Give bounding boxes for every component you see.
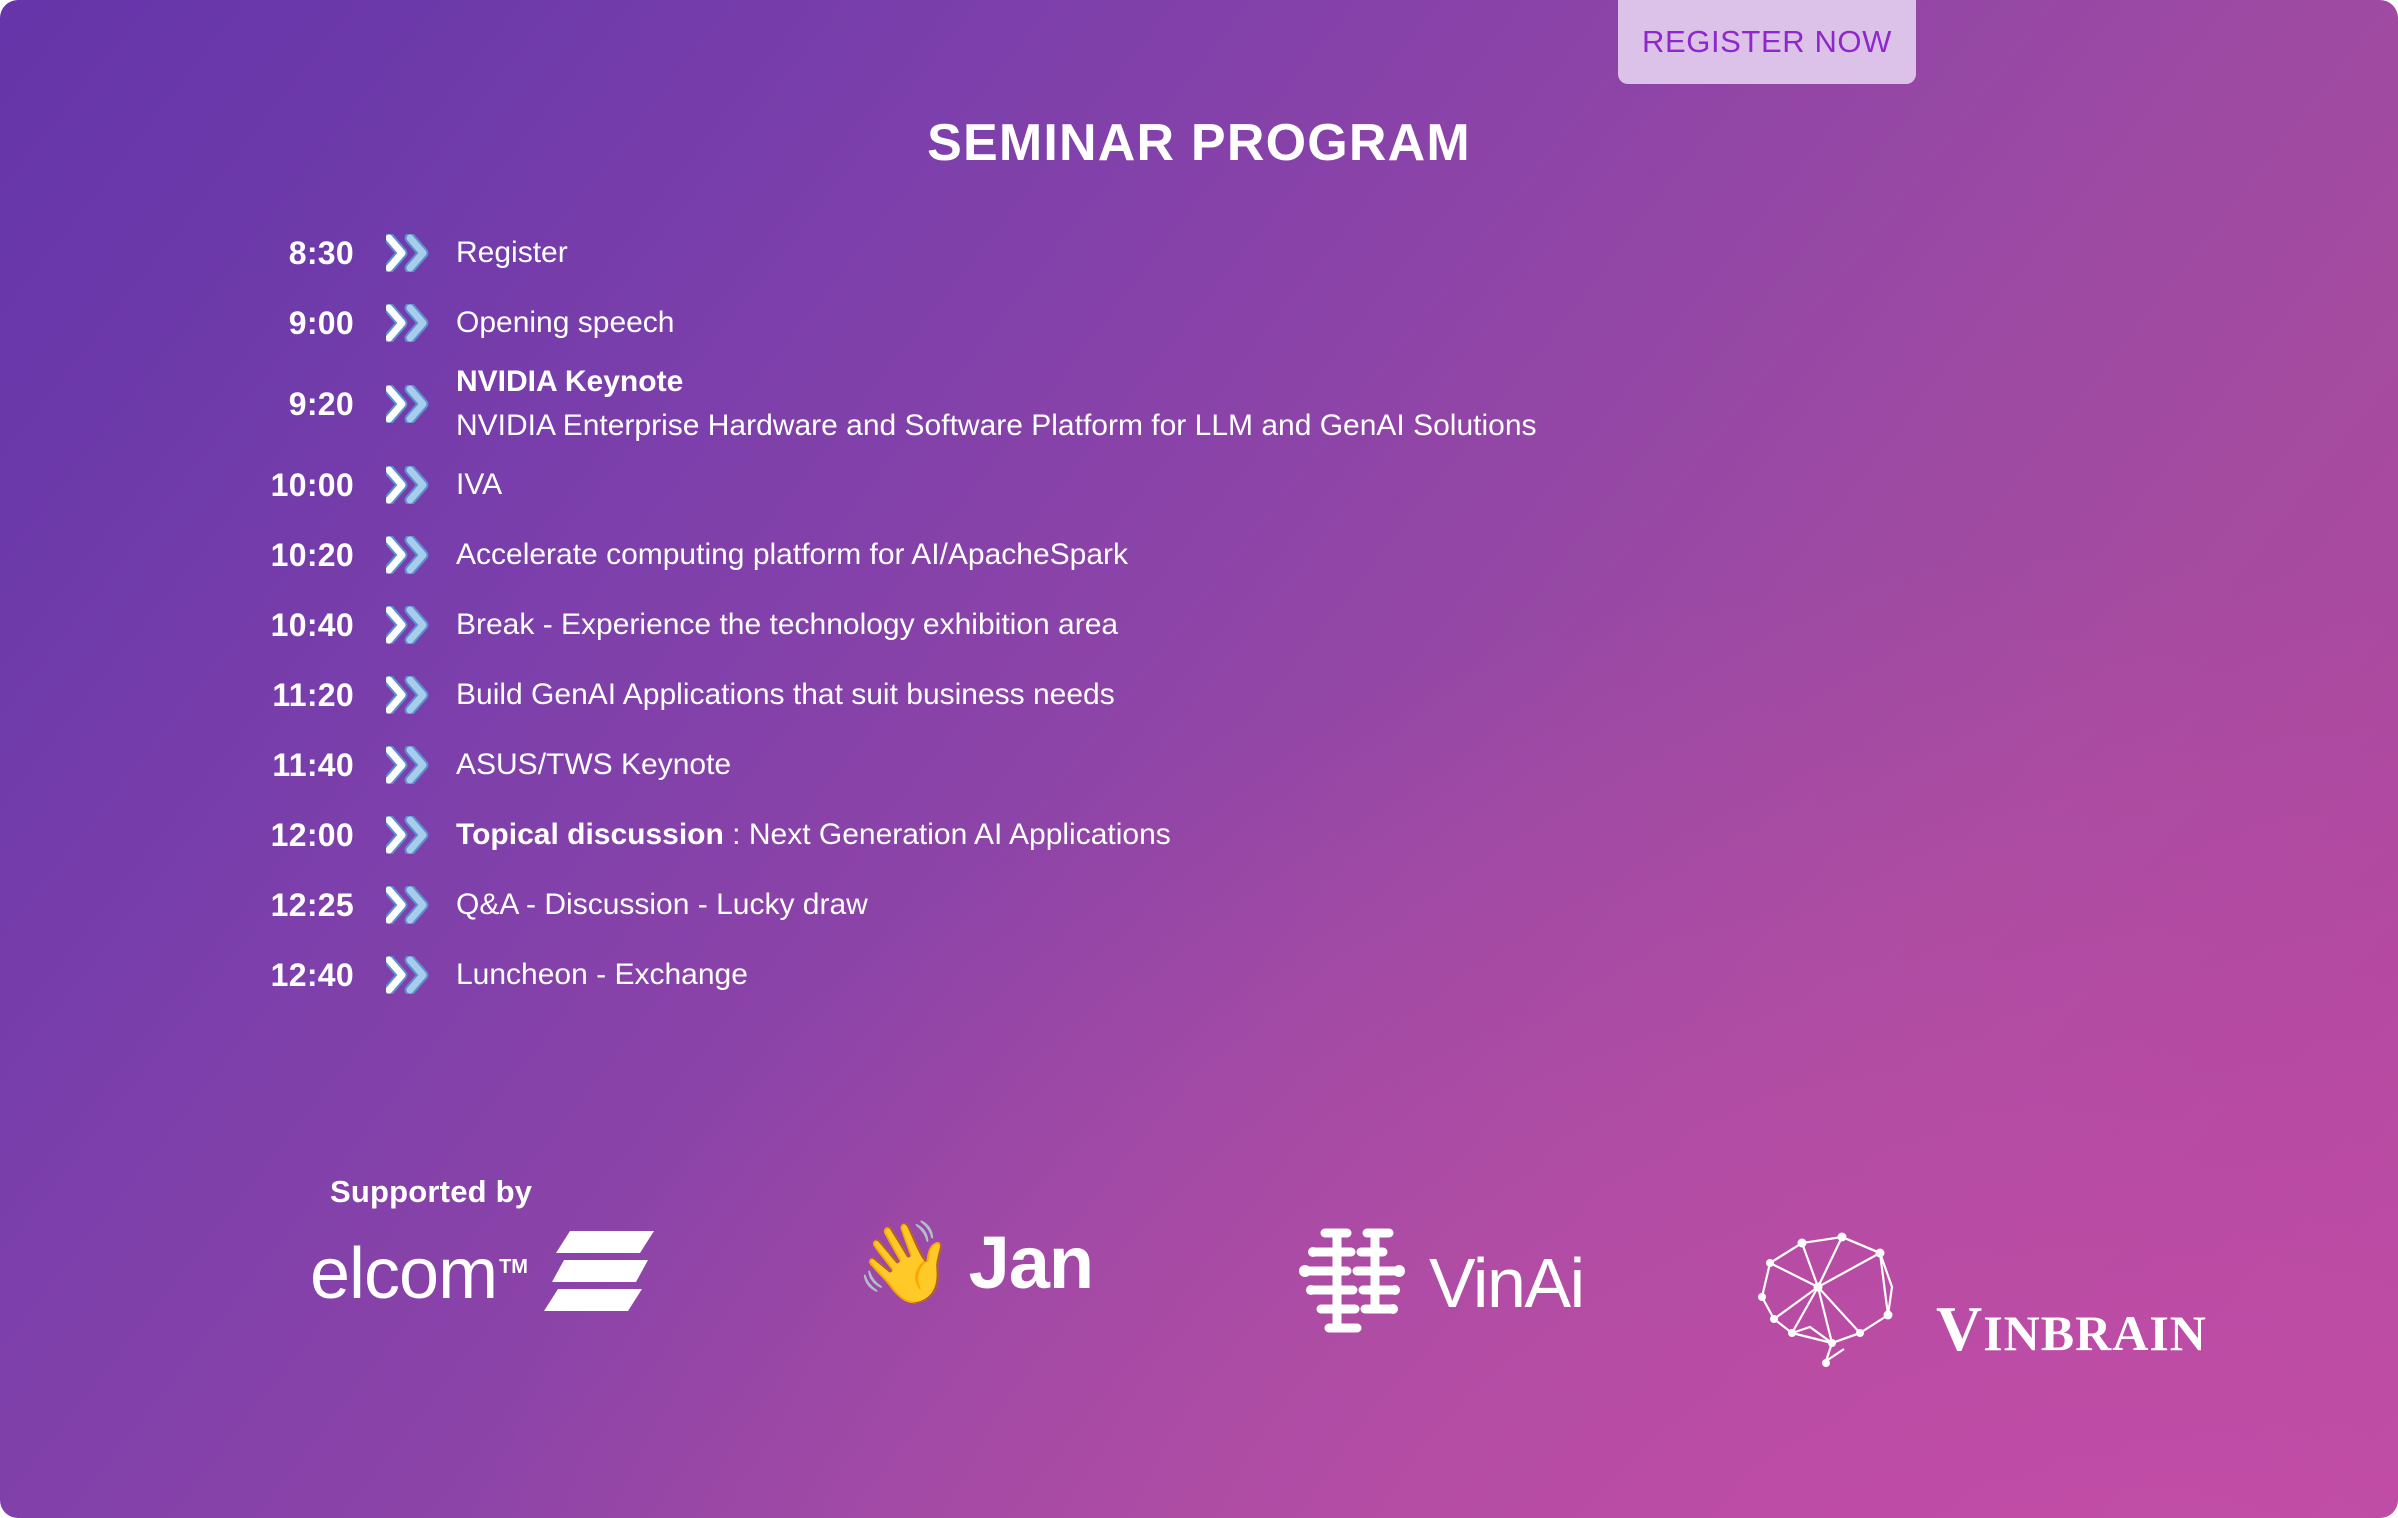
schedule-row: 12:40 Luncheon - Exchange [0, 940, 2398, 1010]
sponsor-logo-vinai: VinAi [1295, 1221, 1584, 1344]
schedule-time: 12:40 [0, 957, 372, 994]
double-chevron-icon [372, 606, 446, 644]
schedule-time: 12:00 [0, 817, 372, 854]
double-chevron-icon [372, 536, 446, 574]
vinbrain-wordmark-cap: V [1936, 1293, 1983, 1364]
schedule-session-title: NVIDIA Keynote [456, 362, 2398, 402]
schedule-row: 11:20 Build GenAI Applications that suit… [0, 660, 2398, 730]
elcom-wordmark: elcomTM [310, 1238, 528, 1310]
brain-network-icon [1740, 1215, 1930, 1375]
schedule-session-lead: Topical discussion [456, 818, 724, 851]
schedule-time: 11:20 [0, 677, 372, 714]
schedule-time: 9:00 [0, 305, 372, 342]
schedule-row: 9:20 NVIDIA Keynote NVIDIA Enterprise Ha… [0, 358, 2398, 450]
schedule-time: 12:25 [0, 887, 372, 924]
double-chevron-icon [372, 466, 446, 504]
waving-hand-icon: 👋 [855, 1223, 955, 1303]
schedule-time: 10:00 [0, 467, 372, 504]
schedule-row: 10:20 Accelerate computing platform for … [0, 520, 2398, 590]
sponsor-logo-vinbrain: VINBRAIN [1740, 1215, 2207, 1375]
schedule-time: 10:40 [0, 607, 372, 644]
vinbrain-wordmark: VINBRAIN [1936, 1297, 2207, 1361]
schedule-row: 9:00 Opening speech [0, 288, 2398, 358]
sponsor-logo-elcom: elcomTM [310, 1227, 656, 1320]
double-chevron-icon [372, 304, 446, 342]
schedule-text: Q&A - Discussion - Lucky draw [446, 885, 2398, 925]
vinai-network-mark-icon [1295, 1221, 1415, 1344]
double-chevron-icon [372, 886, 446, 924]
schedule-row: 12:25 Q&A - Discussion - Lucky draw [0, 870, 2398, 940]
schedule-text: Opening speech [446, 303, 2398, 343]
schedule-row: 11:40 ASUS/TWS Keynote [0, 730, 2398, 800]
schedule-text: Build GenAI Applications that suit busin… [446, 675, 2398, 715]
schedule-time: 8:30 [0, 235, 372, 272]
schedule-text: Luncheon - Exchange [446, 955, 2398, 995]
sponsor-logos: elcomTM 👋 Jan [300, 1215, 2100, 1365]
elcom-e-mark-icon [544, 1227, 656, 1320]
schedule-session-rest: : Next Generation AI Applications [724, 818, 1171, 851]
schedule-text: ASUS/TWS Keynote [446, 745, 2398, 785]
vinbrain-wordmark-rest: INBRAIN [1983, 1305, 2207, 1361]
schedule-time: 11:40 [0, 747, 372, 784]
schedule-time: 10:20 [0, 537, 372, 574]
schedule-session-subtitle: NVIDIA Enterprise Hardware and Software … [456, 406, 2398, 446]
schedule-row: 10:40 Break - Experience the technology … [0, 590, 2398, 660]
double-chevron-icon [372, 956, 446, 994]
schedule-text: IVA [446, 465, 2398, 505]
schedule-row: 12:00 Topical discussion : Next Generati… [0, 800, 2398, 870]
schedule-row: 10:00 IVA [0, 450, 2398, 520]
schedule-text: Accelerate computing platform for AI/Apa… [446, 535, 2398, 575]
schedule-text: Topical discussion : Next Generation AI … [446, 815, 2398, 855]
schedule-text: Break - Experience the technology exhibi… [446, 605, 2398, 645]
schedule-row: 8:30 Register [0, 218, 2398, 288]
vinai-wordmark: VinAi [1429, 1248, 1584, 1318]
page-title: SEMINAR PROGRAM [0, 113, 2398, 173]
sponsor-logo-jan: 👋 Jan [855, 1223, 1093, 1303]
double-chevron-icon [372, 234, 446, 272]
schedule-time: 9:20 [0, 386, 372, 423]
jan-wordmark: Jan [969, 1226, 1094, 1300]
schedule-list: 8:30 Register 9:00 [0, 218, 2398, 1010]
supported-by-label: Supported by [330, 1174, 532, 1210]
trademark-icon: TM [499, 1256, 528, 1278]
schedule-text: NVIDIA Keynote NVIDIA Enterprise Hardwar… [446, 362, 2398, 446]
double-chevron-icon [372, 816, 446, 854]
register-now-button[interactable]: REGISTER NOW [1618, 0, 1916, 84]
double-chevron-icon [372, 385, 446, 423]
seminar-program-page: REGISTER NOW SEMINAR PROGRAM 8:30 Regist… [0, 0, 2398, 1518]
schedule-text: Register [446, 233, 2398, 273]
elcom-wordmark-text: elcom [310, 1234, 497, 1314]
double-chevron-icon [372, 746, 446, 784]
double-chevron-icon [372, 676, 446, 714]
